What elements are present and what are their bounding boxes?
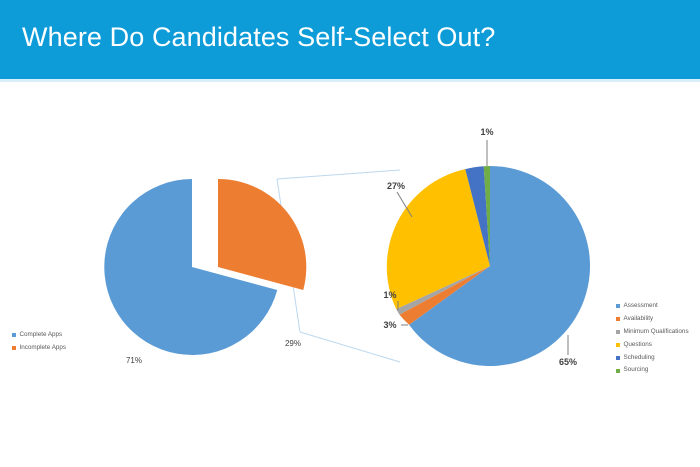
secondary-label-availability: 3%	[383, 320, 396, 330]
secondary-label-questions: 27%	[387, 181, 405, 191]
legend-item-minimum-qualifications[interactable]: Minimum Qualifications	[616, 329, 689, 335]
legend-swatch-icon	[616, 343, 620, 347]
legend-item-availability[interactable]: Availability	[616, 316, 689, 322]
legend-swatch-icon	[616, 330, 620, 334]
legend-item-incomplete-apps[interactable]: Incomplete Apps	[12, 345, 66, 351]
legend-label: Scheduling	[624, 355, 655, 361]
secondary-label-minimum-qualifications: 1%	[383, 290, 396, 300]
legend-swatch-icon	[616, 304, 620, 308]
legend-item-complete-apps[interactable]: Complete Apps	[12, 332, 66, 338]
legend-swatch-icon	[616, 317, 620, 321]
legend-label: Questions	[624, 342, 652, 348]
legend-label: Availability	[624, 316, 654, 322]
legend-item-scheduling[interactable]: Scheduling	[616, 355, 689, 361]
primary-legend: Complete Apps Incomplete Apps	[12, 332, 66, 358]
secondary-pie: 1% 27% 1% 3% 65%	[383, 127, 590, 367]
legend-label: Incomplete Apps	[20, 345, 67, 351]
slide-canvas: Where Do Candidates Self-Select Out?	[0, 0, 700, 467]
legend-label: Sourcing	[624, 367, 649, 373]
primary-pie: 71% 29%	[104, 179, 306, 365]
legend-item-questions[interactable]: Questions	[616, 342, 689, 348]
legend-item-assessment[interactable]: Assessment	[616, 303, 689, 309]
legend-label: Assessment	[624, 303, 658, 309]
legend-swatch-icon	[12, 346, 16, 350]
pie-slice-incomplete-apps[interactable]	[218, 179, 306, 290]
primary-label-incomplete: 29%	[285, 339, 301, 348]
secondary-label-assessment: 65%	[559, 357, 577, 367]
legend-item-sourcing[interactable]: Sourcing	[616, 367, 689, 373]
pie-of-pie-chart: 71% 29%	[0, 82, 700, 467]
secondary-legend: Assessment Availability Minimum Qualific…	[616, 303, 689, 380]
legend-swatch-icon	[616, 356, 620, 360]
slide-header-band: Where Do Candidates Self-Select Out?	[0, 0, 700, 79]
legend-label: Complete Apps	[20, 332, 63, 338]
secondary-label-sourcing: 1%	[480, 127, 493, 137]
legend-label: Minimum Qualifications	[624, 329, 689, 335]
primary-label-complete: 71%	[126, 356, 142, 365]
page-title: Where Do Candidates Self-Select Out?	[22, 22, 495, 53]
chart-graphic: 71% 29%	[0, 82, 700, 467]
legend-swatch-icon	[616, 369, 620, 373]
legend-swatch-icon	[12, 333, 16, 337]
